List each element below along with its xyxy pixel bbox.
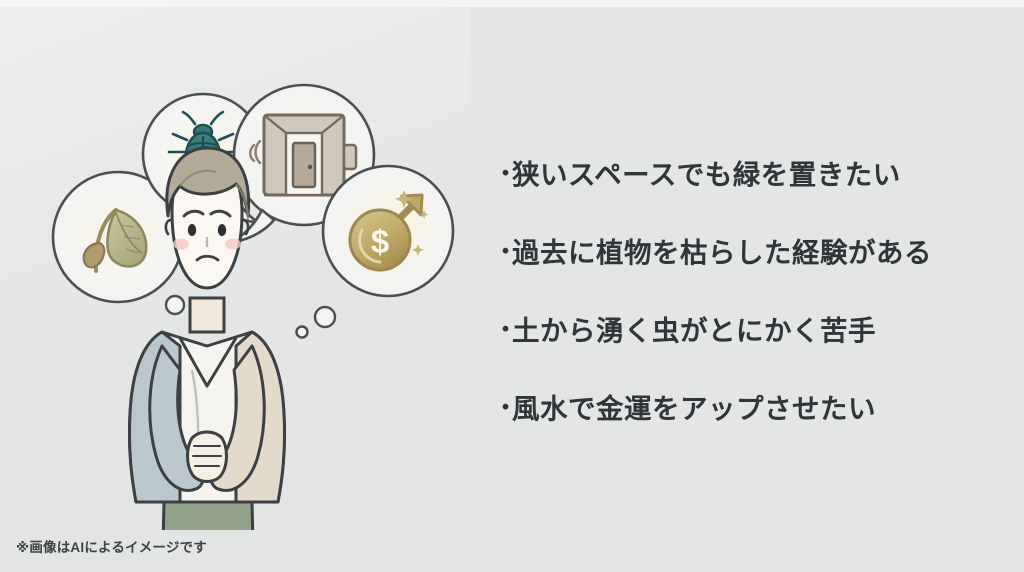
- bullet-marker-icon: ・: [492, 239, 512, 266]
- ai-image-disclaimer: ※画像はAIによるイメージです: [16, 536, 207, 556]
- clasped-hands: [188, 432, 227, 482]
- bullet-marker-icon: ・: [492, 395, 512, 422]
- bullet-text-4: 風水で金運をアップさせたい: [512, 393, 876, 425]
- slide-canvas: $: [0, 0, 1024, 572]
- bullet-marker-icon: ・: [492, 161, 512, 188]
- bullet-list: ・ 狭いスペースでも緑を置きたい ・ 過去に植物を枯らした経験がある ・ 土から…: [492, 136, 1002, 448]
- thought-bubble-money-luck: $: [323, 166, 453, 296]
- illustration-woman-with-thought-bubbles: $: [40, 70, 470, 530]
- bullet-item-1: ・ 狭いスペースでも緑を置きたい: [492, 136, 1002, 214]
- svg-text:$: $: [371, 223, 389, 260]
- bullet-item-4: ・ 風水で金運をアップさせたい: [492, 370, 1002, 448]
- bullet-text-2: 過去に植物を枯らした経験がある: [512, 237, 932, 269]
- bullet-item-3: ・ 土から湧く虫がとにかく苦手: [492, 292, 1002, 370]
- bullet-marker-icon: ・: [492, 317, 512, 344]
- narrow-room-door-icon: [250, 115, 356, 195]
- top-edge-band: [0, 0, 1024, 7]
- bullet-item-2: ・ 過去に植物を枯らした経験がある: [492, 214, 1002, 292]
- bullet-text-1: 狭いスペースでも緑を置きたい: [512, 159, 901, 191]
- bullet-text-3: 土から湧く虫がとにかく苦手: [512, 315, 876, 347]
